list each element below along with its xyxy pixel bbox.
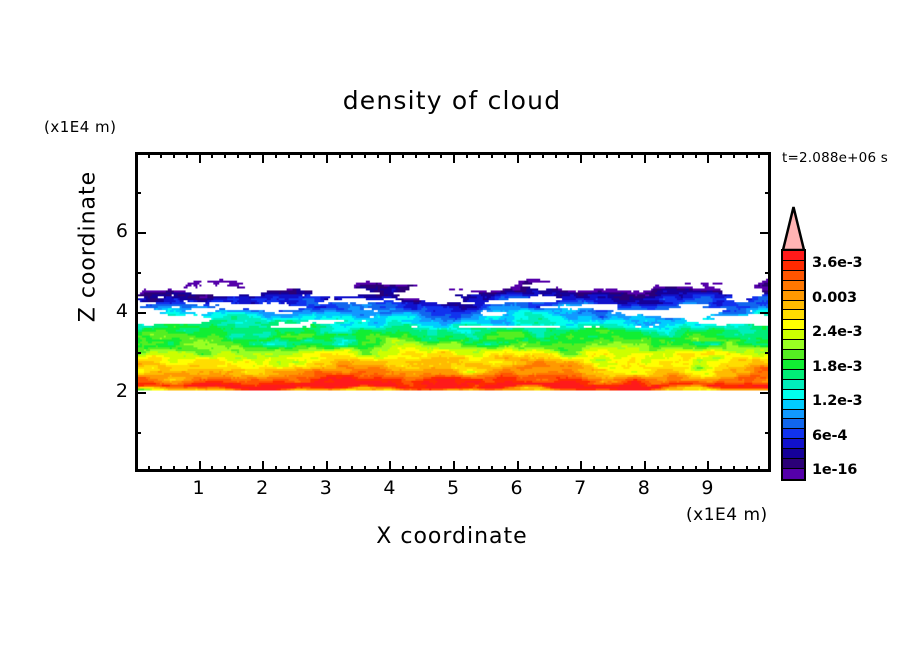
x-axis-tick — [339, 152, 341, 158]
x-axis-tick — [186, 466, 188, 472]
y-axis-tick — [135, 272, 141, 274]
x-axis-tick — [606, 466, 608, 472]
x-axis-tick — [440, 466, 442, 472]
y-axis-tick — [765, 272, 771, 274]
x-axis-tick — [746, 152, 748, 158]
y-axis-tick — [135, 392, 146, 394]
colorbar-band — [783, 310, 804, 320]
y-axis-tick-label: 2 — [104, 380, 128, 402]
x-axis-tick — [199, 461, 201, 472]
y-axis-tick — [765, 432, 771, 434]
x-axis-tick — [224, 152, 226, 158]
timestamp-annotation: t=2.088e+06 s — [782, 150, 888, 166]
y-axis-tick-label: 4 — [104, 300, 128, 322]
y-axis-tick — [135, 232, 146, 234]
x-axis-tick — [211, 152, 213, 158]
x-axis-tick — [720, 152, 722, 158]
colorbar-band — [783, 419, 804, 429]
x-axis-tick — [593, 466, 595, 472]
x-axis-tick — [466, 466, 468, 472]
x-axis-tick — [262, 152, 264, 163]
x-axis-tick — [148, 466, 150, 472]
colorbar-band — [783, 350, 804, 360]
y-axis-tick — [135, 432, 141, 434]
x-axis-tick — [517, 461, 519, 472]
x-axis-tick — [160, 466, 162, 472]
x-axis-tick — [618, 152, 620, 158]
x-axis-tick-label: 5 — [441, 477, 465, 499]
figure-root: density of cloud (x1E4 m) (x1E4 m) X coo… — [0, 0, 904, 654]
x-axis-tick — [517, 152, 519, 163]
colorbar-band — [783, 410, 804, 420]
x-axis-tick — [542, 152, 544, 158]
x-axis-tick — [339, 466, 341, 472]
x-axis-tick — [415, 152, 417, 158]
x-axis-tick — [300, 466, 302, 472]
x-axis-tick — [555, 466, 557, 472]
y-axis-tick — [765, 192, 771, 194]
x-axis-tick — [249, 466, 251, 472]
colorbar-tick-label: 1.8e-3 — [812, 359, 862, 375]
x-axis-tick — [682, 152, 684, 158]
x-axis-tick — [249, 152, 251, 158]
colorbar-band — [783, 469, 804, 479]
colorbar-tick-label: 3.6e-3 — [812, 255, 862, 271]
x-axis-tick — [504, 152, 506, 158]
x-axis-tick — [669, 152, 671, 158]
x-axis-tick — [555, 152, 557, 158]
x-axis-tick — [453, 152, 455, 163]
y-axis-tick-label: 6 — [104, 220, 128, 242]
x-axis-tick — [262, 461, 264, 472]
colorbar-band — [783, 449, 804, 459]
x-axis-tick — [364, 466, 366, 472]
x-axis-tick — [733, 152, 735, 158]
colorbar-band — [783, 360, 804, 370]
y-axis-tick — [135, 192, 141, 194]
x-axis-tick — [237, 152, 239, 158]
x-axis-tick — [428, 152, 430, 158]
page-title: density of cloud — [0, 86, 904, 115]
x-axis-tick — [237, 466, 239, 472]
x-axis-tick — [657, 466, 659, 472]
x-axis-tick — [478, 466, 480, 472]
y-axis-units-label: (x1E4 m) — [44, 118, 117, 136]
x-axis-tick — [275, 466, 277, 472]
x-axis-tick — [351, 152, 353, 158]
x-axis-tick — [402, 152, 404, 158]
x-axis-tick-label: 3 — [314, 477, 338, 499]
colorbar-band — [783, 439, 804, 449]
x-axis-tick — [491, 466, 493, 472]
colorbar-tick-label: 1e-16 — [812, 462, 857, 478]
x-axis-title: X coordinate — [0, 524, 904, 549]
colorbar-tick-label: 1.2e-3 — [812, 393, 862, 409]
x-axis-tick-label: 7 — [568, 477, 592, 499]
x-axis-units-label: (x1E4 m) — [686, 505, 768, 525]
x-axis-tick-label: 6 — [505, 477, 529, 499]
colorbar-band — [783, 320, 804, 330]
colorbar-band — [783, 281, 804, 291]
colorbar-band — [783, 380, 804, 390]
x-axis-tick — [313, 152, 315, 158]
x-axis-tick — [466, 152, 468, 158]
colorbar-band — [783, 271, 804, 281]
x-axis-tick — [288, 466, 290, 472]
x-axis-tick-label: 4 — [377, 477, 401, 499]
colorbar-tick-label: 6e-4 — [812, 428, 847, 444]
x-axis-tick-label: 9 — [695, 477, 719, 499]
plot-area — [135, 152, 771, 472]
x-axis-tick — [529, 152, 531, 158]
x-axis-tick — [593, 152, 595, 158]
x-axis-tick — [606, 152, 608, 158]
x-axis-tick — [631, 152, 633, 158]
x-axis-tick — [313, 466, 315, 472]
x-axis-tick — [682, 466, 684, 472]
x-axis-tick — [657, 152, 659, 158]
x-axis-tick — [504, 466, 506, 472]
x-axis-tick — [758, 466, 760, 472]
x-axis-tick — [707, 152, 709, 163]
x-axis-tick — [173, 466, 175, 472]
x-axis-tick — [707, 461, 709, 472]
x-axis-tick — [377, 152, 379, 158]
x-axis-tick — [428, 466, 430, 472]
y-axis-title: Z coordinate — [76, 167, 101, 327]
colorbar-band — [783, 291, 804, 301]
x-axis-tick — [389, 152, 391, 163]
colorbar-band — [783, 261, 804, 271]
colorbar-band — [783, 429, 804, 439]
x-axis-tick-label: 8 — [632, 477, 656, 499]
x-axis-tick-label: 1 — [187, 477, 211, 499]
x-axis-tick — [720, 466, 722, 472]
x-axis-tick — [300, 152, 302, 158]
colorbar-band — [783, 400, 804, 410]
x-axis-tick — [695, 152, 697, 158]
colorbar-band — [783, 390, 804, 400]
x-axis-tick — [389, 461, 391, 472]
y-axis-tick — [760, 232, 771, 234]
x-axis-tick — [160, 152, 162, 158]
x-axis-tick — [746, 466, 748, 472]
x-axis-tick — [199, 152, 201, 163]
x-axis-tick — [644, 461, 646, 472]
colorbar-band — [783, 459, 804, 469]
x-axis-tick — [542, 466, 544, 472]
x-axis-tick — [186, 152, 188, 158]
x-axis-tick — [351, 466, 353, 472]
x-axis-tick — [669, 466, 671, 472]
colorbar-overflow-arrow-icon — [781, 205, 806, 251]
x-axis-tick — [695, 466, 697, 472]
x-axis-tick — [580, 152, 582, 163]
x-axis-tick — [364, 152, 366, 158]
x-axis-tick — [148, 152, 150, 158]
y-axis-tick — [760, 312, 771, 314]
y-axis-tick — [135, 352, 141, 354]
x-axis-tick — [453, 461, 455, 472]
x-axis-tick — [758, 152, 760, 158]
x-axis-tick — [288, 152, 290, 158]
x-axis-tick — [402, 466, 404, 472]
x-axis-tick — [440, 152, 442, 158]
x-axis-tick — [733, 466, 735, 472]
contour-field-canvas — [138, 155, 768, 469]
colorbar-tick-label: 0.003 — [812, 290, 857, 306]
x-axis-tick — [567, 152, 569, 158]
colorbar-gradient — [781, 249, 806, 481]
x-axis-tick-label: 2 — [250, 477, 274, 499]
x-axis-tick — [415, 466, 417, 472]
x-axis-tick — [173, 152, 175, 158]
y-axis-tick — [760, 392, 771, 394]
x-axis-tick — [644, 152, 646, 163]
x-axis-tick — [377, 466, 379, 472]
x-axis-tick — [567, 466, 569, 472]
x-axis-tick — [618, 466, 620, 472]
x-axis-tick — [326, 152, 328, 163]
x-axis-tick — [224, 466, 226, 472]
colorbar-band — [783, 370, 804, 380]
colorbar-band — [783, 330, 804, 340]
x-axis-tick — [211, 466, 213, 472]
x-axis-tick — [275, 152, 277, 158]
x-axis-tick — [529, 466, 531, 472]
x-axis-tick — [491, 152, 493, 158]
x-axis-tick — [580, 461, 582, 472]
y-axis-tick — [135, 312, 146, 314]
x-axis-tick — [478, 152, 480, 158]
y-axis-tick — [765, 352, 771, 354]
colorbar-band — [783, 251, 804, 261]
colorbar-band — [783, 301, 804, 311]
x-axis-tick — [326, 461, 328, 472]
x-axis-tick — [631, 466, 633, 472]
colorbar-band — [783, 340, 804, 350]
colorbar-tick-label: 2.4e-3 — [812, 324, 862, 340]
